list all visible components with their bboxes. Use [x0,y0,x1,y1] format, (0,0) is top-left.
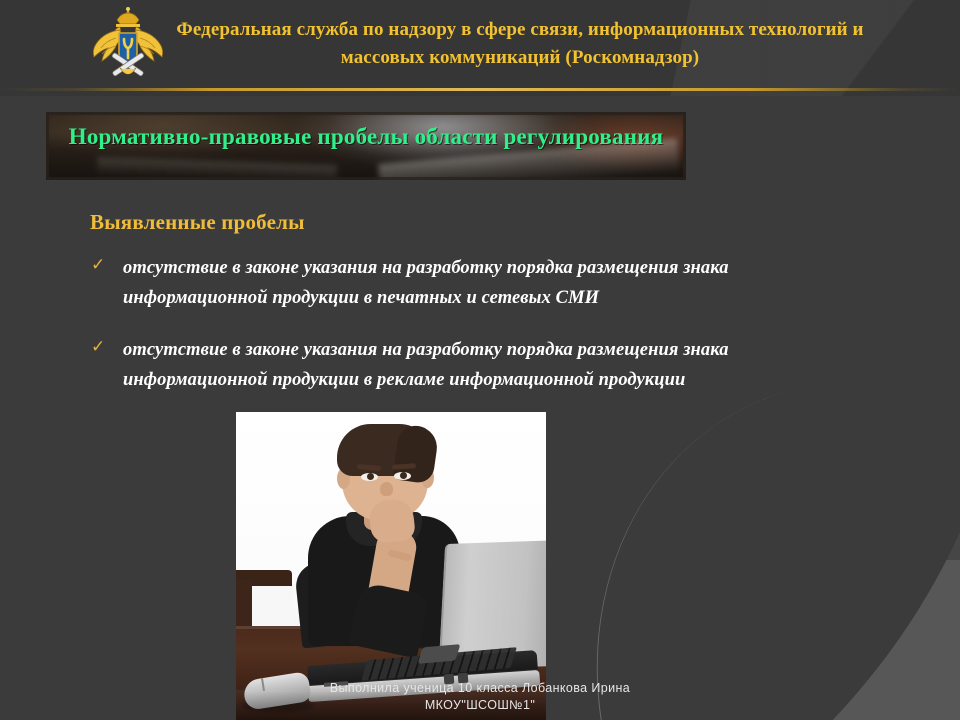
header-gold-rule [0,88,960,91]
author-caption-line1: Выполнила ученица 10 класса Лобанкова Ир… [0,680,960,697]
checkmark-icon: ✓ [91,256,109,274]
section-heading: Выявленные пробелы [90,210,305,235]
slide-header: Федеральная служба по надзору в сфере св… [0,0,960,96]
list-item: ✓ отсутствие в законе указания на разраб… [88,253,808,313]
presentation-slide: Федеральная служба по надзору в сфере св… [0,0,960,720]
author-caption-line2: МКОУ"ШСОШ№1" [0,697,960,714]
slide-title-banner: Нормативно-правовые пробелы области регу… [46,112,686,180]
list-item: ✓ отсутствие в законе указания на разраб… [88,335,808,395]
bullet-list: ✓ отсутствие в законе указания на разраб… [88,253,808,417]
list-item-text: отсутствие в законе указания на разработ… [123,253,808,313]
photo-boy-pupil-left [367,473,374,480]
author-caption: Выполнила ученица 10 класса Лобанкова Ир… [0,680,960,714]
boy-at-laptop-photo [236,412,546,720]
list-item-text: отсутствие в законе указания на разработ… [123,335,808,395]
roskomnadzor-eagle-emblem [86,6,170,90]
organization-title: Федеральная служба по надзору в сфере св… [170,16,870,72]
photo-boy-nose [380,482,393,496]
checkmark-icon: ✓ [91,338,109,356]
slide-title: Нормативно-правовые пробелы области регу… [46,124,686,150]
organization-title-line1: Федеральная служба по надзору в сфере св… [170,16,870,44]
photo-boy-pupil-right [400,472,407,479]
organization-title-line2: массовых коммуникаций (Роскомнадзор) [170,44,870,72]
